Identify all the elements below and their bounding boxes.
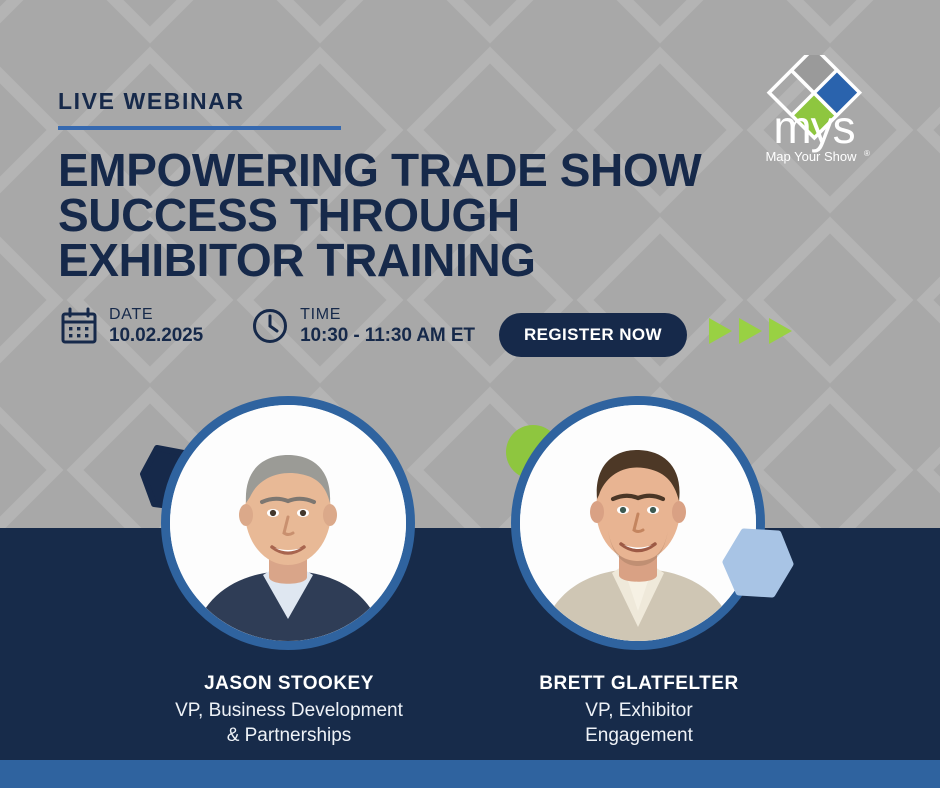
play-arrow-icon bbox=[769, 318, 792, 344]
play-arrow-icon bbox=[739, 318, 762, 344]
time-value: 10:30 - 11:30 AM ET bbox=[300, 325, 475, 348]
register-now-button[interactable]: REGISTER NOW bbox=[499, 313, 687, 357]
date-value: 10.02.2025 bbox=[109, 325, 203, 348]
eyebrow-label: LIVE WEBINAR bbox=[58, 88, 245, 115]
page-title: EMPOWERING TRADE SHOW SUCCESS THROUGH EX… bbox=[58, 148, 758, 283]
play-arrow-icon bbox=[709, 318, 732, 344]
speaker-role-line-2: & Partnerships bbox=[129, 723, 449, 749]
eyebrow-underline bbox=[58, 126, 341, 130]
speaker-role-line-1: VP, Exhibitor bbox=[479, 698, 799, 724]
event-meta: DATE 10.02.2025 TIME 10:30 - 11:30 AM ET bbox=[60, 305, 475, 348]
headline-line-3: EXHIBITOR TRAINING bbox=[58, 238, 758, 283]
date-block: DATE 10.02.2025 bbox=[60, 305, 203, 348]
speaker-name: BRETT GLATFELTER bbox=[479, 670, 799, 698]
headline-line-2: SUCCESS THROUGH bbox=[58, 193, 758, 238]
bottom-accent-bar bbox=[0, 760, 940, 788]
arrow-indicators bbox=[709, 318, 792, 344]
speaker-photo-brett-glatfelter bbox=[511, 396, 765, 650]
calendar-icon bbox=[60, 307, 98, 345]
date-label: DATE bbox=[109, 305, 203, 325]
decorative-hexagon-lightblue bbox=[722, 528, 794, 602]
speaker-role-line-1: VP, Business Development bbox=[129, 698, 449, 724]
webinar-promo-graphic: LIVE WEBINAR EMPOWERING TRADE SHOW SUCCE… bbox=[0, 0, 940, 788]
time-block: TIME 10:30 - 11:30 AM ET bbox=[251, 305, 475, 348]
speaker-caption-2: BRETT GLATFELTER VP, Exhibitor Engagemen… bbox=[479, 670, 799, 749]
time-label: TIME bbox=[300, 305, 475, 325]
speaker-role-line-2: Engagement bbox=[479, 723, 799, 749]
clock-icon bbox=[251, 307, 289, 345]
svg-text:mys: mys bbox=[773, 101, 854, 153]
speaker-photo-jason-stookey bbox=[161, 396, 415, 650]
svg-text:®: ® bbox=[864, 149, 870, 158]
speaker-caption-1: JASON STOOKEY VP, Business Development &… bbox=[129, 670, 449, 749]
map-your-show-logo: mys Map Your Show ® bbox=[752, 55, 877, 170]
svg-text:Map Your Show: Map Your Show bbox=[765, 149, 857, 164]
speaker-name: JASON STOOKEY bbox=[129, 670, 449, 698]
headline-line-1: EMPOWERING TRADE SHOW bbox=[58, 148, 758, 193]
